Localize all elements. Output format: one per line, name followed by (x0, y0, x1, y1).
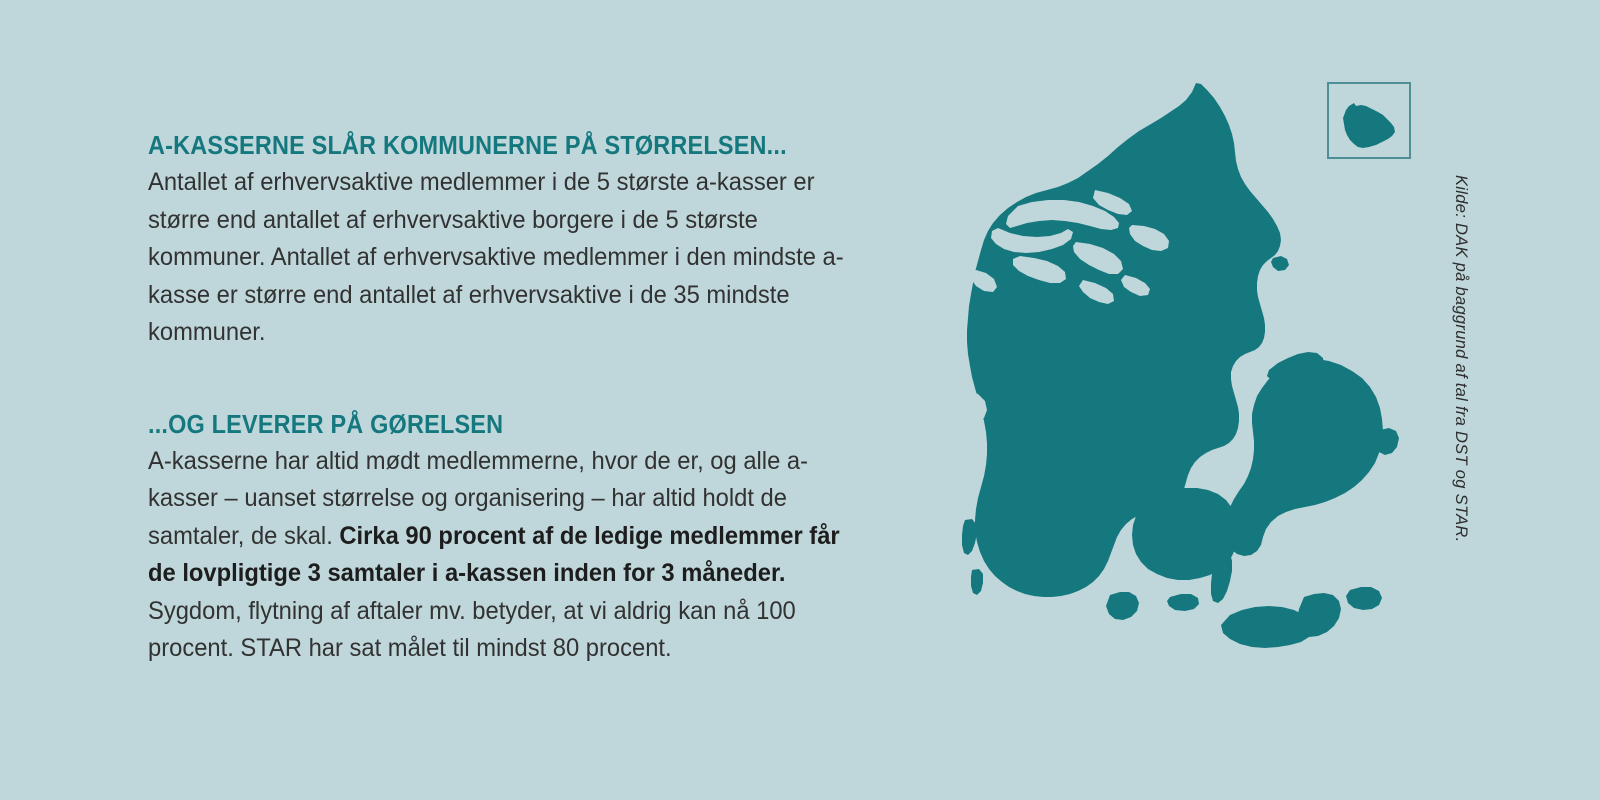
body-paragraph-size: Antallet af erhvervsaktive medlemmer i d… (148, 164, 870, 352)
body-paragraph-delivery: A-kasserne har altid mødt medlemmerne, h… (148, 443, 870, 668)
aeroe-island (1167, 594, 1199, 611)
falster-island (1297, 593, 1341, 637)
amager-island (1377, 428, 1399, 455)
text-block-delivery: ...OG LEVERER PÅ GØRELSEN A-kasserne har… (148, 411, 908, 668)
als-island (1106, 592, 1139, 620)
roemoe-island (971, 569, 983, 595)
anholt-island (1271, 256, 1289, 271)
infographic-page: A-KASSERNE SLÅR KOMMUNERNE PÅ STØRRELSEN… (0, 0, 1600, 800)
samsoe-island (1186, 421, 1203, 450)
text-column: A-KASSERNE SLÅR KOMMUNERNE PÅ STØRRELSEN… (148, 132, 908, 668)
moen-island (1346, 587, 1382, 610)
bornholm-island (1343, 103, 1395, 148)
headline-og-leverer-paa-goerelsen: ...OG LEVERER PÅ GØRELSEN (148, 411, 847, 439)
headline-a-kasserne-slaar-kommunerne: A-KASSERNE SLÅR KOMMUNERNE PÅ STØRRELSEN… (148, 132, 847, 160)
zealand-island (1225, 359, 1383, 556)
text-block-size: A-KASSERNE SLÅR KOMMUNERNE PÅ STØRRELSEN… (148, 132, 908, 352)
fanoe-island (962, 519, 977, 555)
denmark-map (880, 70, 1480, 720)
